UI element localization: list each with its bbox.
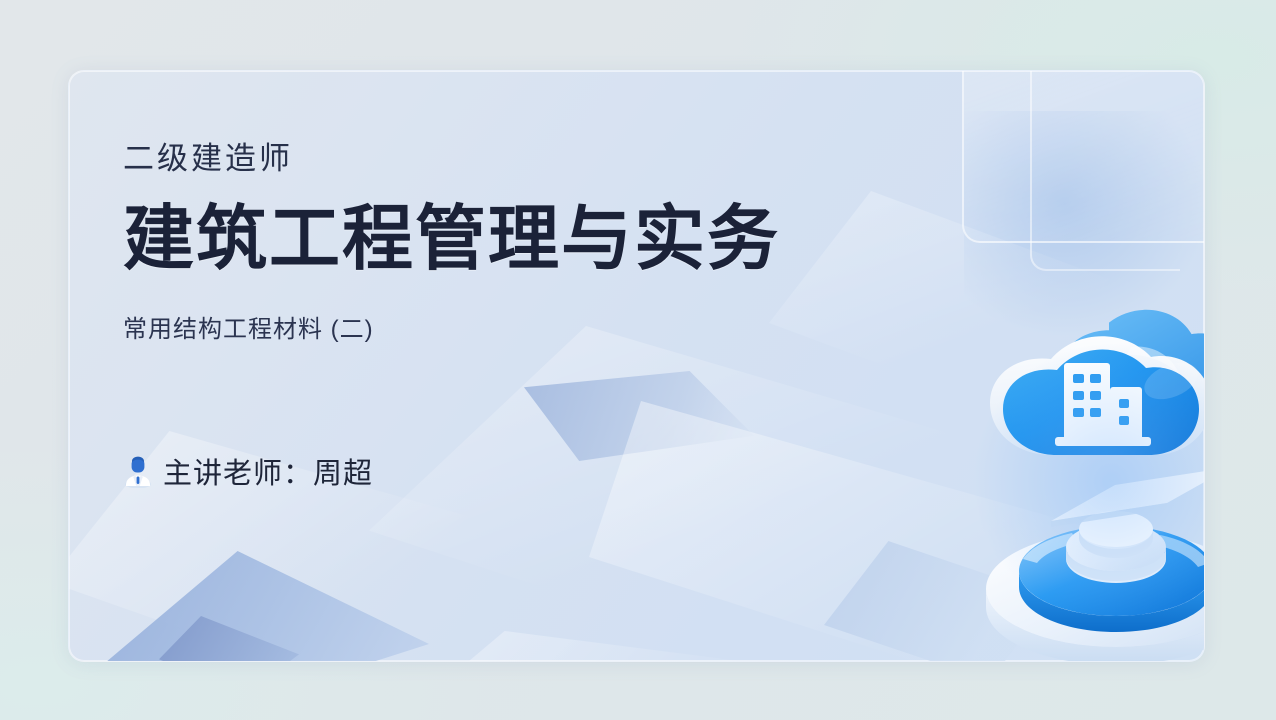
background-isometric-plane-lower-center [429,631,849,662]
lesson-subtitle: 常用结构工程材料 (二) [123,309,780,344]
slide-card: 二级建造师 建筑工程管理与实务 常用结构工程材料 (二) 主讲老师：周超 [68,70,1205,662]
presenter-name-label: 主讲老师：周超 [163,450,373,492]
course-category-label: 二级建造师 [123,143,780,174]
slide-text-block: 二级建造师 建筑工程管理与实务 常用结构工程材料 (二) 主讲老师：周超 [123,143,780,492]
background-outline-decoration-secondary [1030,70,1180,271]
teacher-avatar-icon [123,454,153,488]
cloud-building-3d-illustration [931,271,1205,662]
illustration-glow [961,331,1205,631]
presenter-row: 主讲老师：周超 [123,450,780,492]
page-title: 建筑工程管理与实务 [123,204,780,275]
